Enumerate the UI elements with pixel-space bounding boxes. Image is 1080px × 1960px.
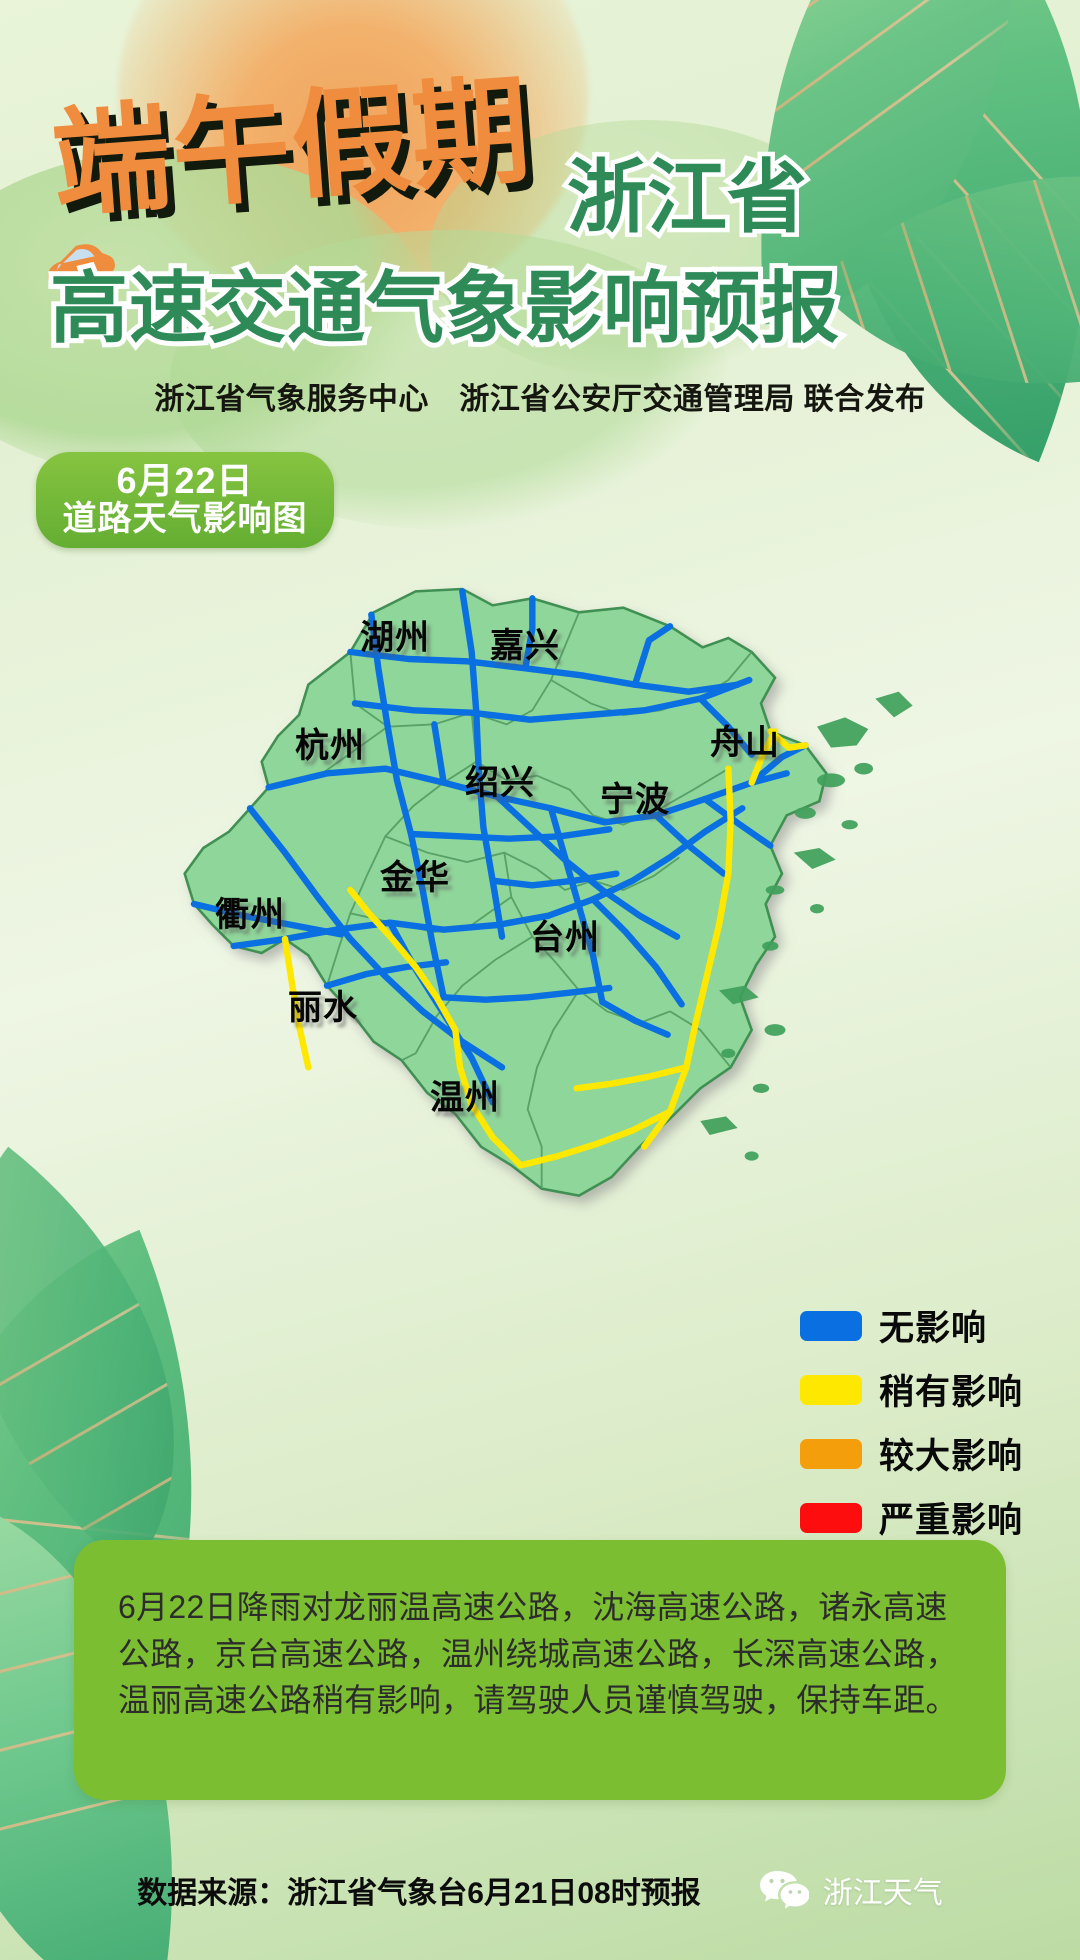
city-label-wenzhou: 温州: [430, 1070, 500, 1119]
date-badge-caption: 道路天气影响图: [63, 500, 308, 538]
legend-swatch-yellow: [800, 1375, 862, 1405]
city-label-hangzhou: 杭州: [295, 718, 365, 767]
wechat-account-name: 浙江天气: [823, 1868, 943, 1912]
description-text: 6月22日降雨对龙丽温高速公路，沈海高速公路，诸永高速公路，京台高速公路，温州绕…: [118, 1584, 968, 1724]
date-badge: 6月22日 道路天气影响图: [36, 452, 334, 548]
city-label-lishui: 丽水: [288, 980, 358, 1029]
city-label-huzhou: 湖州: [360, 610, 430, 659]
legend-swatch-red: [800, 1503, 862, 1533]
legend-item-no-impact: 无影响: [800, 1300, 1023, 1351]
wechat-account: 浙江天气: [759, 1868, 943, 1912]
legend-swatch-blue: [800, 1311, 862, 1341]
city-label-quzhou: 衢州: [215, 887, 285, 936]
weather-impact-map: 湖州 嘉兴 杭州 绍兴 宁波 舟山 金华 衢州 台州 丽水 温州: [110, 540, 950, 1240]
legend-item-major-impact: 较大影响: [800, 1428, 1023, 1479]
footer: 数据来源：浙江省气象台6月21日08时预报 浙江天气: [0, 1868, 1080, 1912]
page-title-province: 浙江省: [567, 158, 807, 238]
city-label-zhoushan: 舟山: [710, 715, 780, 764]
city-label-shaoxing: 绍兴: [465, 755, 535, 804]
city-label-ningbo: 宁波: [600, 772, 670, 821]
legend-label-severe-impact: 严重影响: [879, 1492, 1023, 1543]
wechat-icon: [759, 1869, 809, 1911]
legend-swatch-orange: [800, 1439, 862, 1469]
legend-label-no-impact: 无影响: [879, 1300, 987, 1351]
city-label-jinhua: 金华: [380, 850, 450, 899]
city-label-taizhou: 台州: [530, 910, 600, 959]
poster-root: 端午假期 浙江省 高速交通气象影响预报 浙江省气象服务中心 浙江省公安厅交通管理…: [0, 0, 1080, 1960]
map-legend: 无影响 稍有影响 较大影响 严重影响: [800, 1300, 1023, 1556]
legend-item-slight-impact: 稍有影响: [800, 1364, 1023, 1415]
page-title-sub: 高速交通气象影响预报: [50, 270, 840, 348]
legend-label-slight-impact: 稍有影响: [879, 1364, 1023, 1415]
city-label-jiaxing: 嘉兴: [490, 618, 560, 667]
page-title-main: 端午假期: [48, 71, 535, 224]
legend-label-major-impact: 较大影响: [879, 1428, 1023, 1479]
data-source-text: 数据来源：浙江省气象台6月21日08时预报: [137, 1868, 700, 1912]
legend-item-severe-impact: 严重影响: [800, 1492, 1023, 1543]
date-badge-date: 6月22日: [116, 462, 253, 500]
issuing-organizations: 浙江省气象服务中心 浙江省公安厅交通管理局 联合发布: [0, 374, 1080, 418]
description-card: 6月22日降雨对龙丽温高速公路，沈海高速公路，诸永高速公路，京台高速公路，温州绕…: [74, 1540, 1006, 1800]
